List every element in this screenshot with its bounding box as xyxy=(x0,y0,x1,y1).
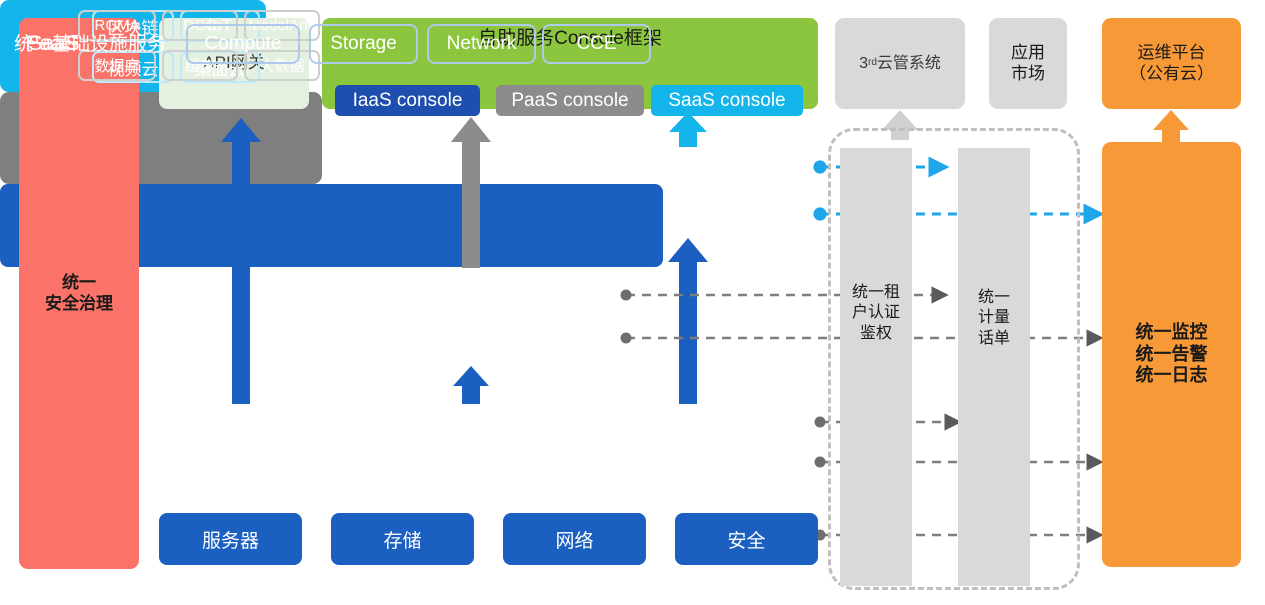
infra-service-compute[interactable]: Compute xyxy=(186,24,300,64)
ops-platform-header-box[interactable]: 运维平台 （公有云） xyxy=(1102,18,1241,109)
unified-infrastructure-label: 统一基础设施服务 xyxy=(14,29,166,56)
shared-auth-label: 统一租 户认证 鉴权 xyxy=(836,283,916,344)
third-party-superscript: rd xyxy=(868,57,877,69)
architecture-diagram: 统一租 户认证 鉴权 统一 计量 话单 统一 安全治理 API网关 自助服务Co… xyxy=(0,0,1265,605)
third-party-suffix: 云管系统 xyxy=(877,54,941,74)
third-party-cloud-management-box[interactable]: 3rd云管系统 xyxy=(835,18,965,109)
infra-service-cce[interactable]: CCE xyxy=(542,24,651,64)
infra-service-network[interactable]: Network xyxy=(427,24,536,64)
arrow-saas-to-console xyxy=(669,112,707,147)
arrow-infra-to-saas xyxy=(668,238,708,404)
shared-column-auth xyxy=(840,148,912,586)
paas-console-chip[interactable]: PaaS console xyxy=(496,85,644,116)
resource-box-server[interactable]: 服务器 xyxy=(159,513,302,565)
resource-box-network[interactable]: 网络 xyxy=(503,513,646,565)
unified-security-governance-panel[interactable]: 统一 安全治理 xyxy=(19,18,139,569)
arrow-infra-to-paas xyxy=(453,366,489,404)
resource-box-security[interactable]: 安全 xyxy=(675,513,818,565)
iaas-console-chip[interactable]: IaaS console xyxy=(335,85,480,116)
third-party-prefix: 3 xyxy=(859,54,868,74)
resource-box-storage[interactable]: 存储 xyxy=(331,513,474,565)
ops-platform-body-box[interactable]: 统一监控 统一告警 统一日志 xyxy=(1102,142,1241,567)
arrow-ops-body-to-header xyxy=(1153,110,1189,144)
app-market-box[interactable]: 应用 市场 xyxy=(989,18,1067,109)
infra-service-storage[interactable]: Storage xyxy=(309,24,418,64)
saas-console-chip[interactable]: SaaS console xyxy=(651,85,803,116)
shared-column-billing xyxy=(958,148,1030,586)
shared-billing-label: 统一 计量 话单 xyxy=(954,288,1034,349)
